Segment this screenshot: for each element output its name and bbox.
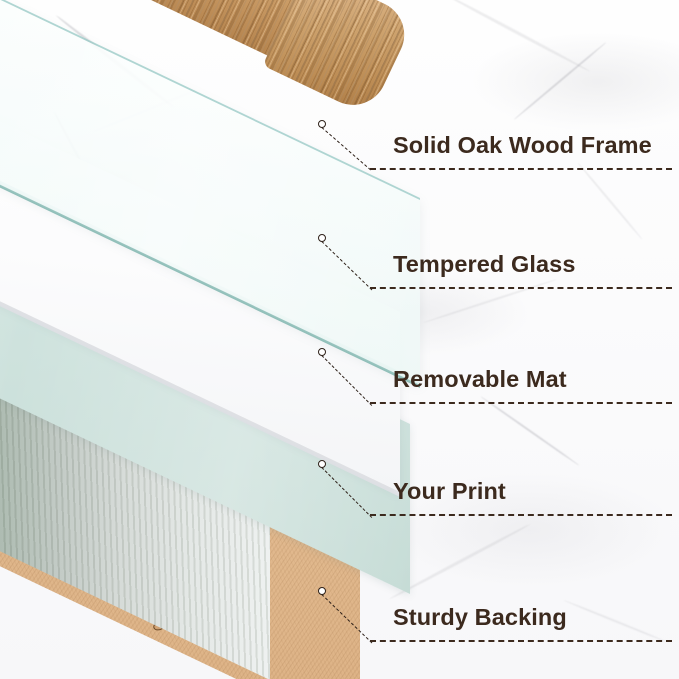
- callout-rule: [370, 402, 672, 404]
- callout-rule: [370, 640, 672, 642]
- product-infographic: Solid Oak Wood Frame Tempered Glass Remo…: [0, 0, 679, 679]
- callout-label-glass: Tempered Glass: [393, 251, 576, 278]
- marble-vein: [480, 396, 579, 466]
- callout-label-print: Your Print: [393, 478, 506, 505]
- frame-corner: [262, 0, 415, 116]
- callout-rule: [370, 287, 672, 289]
- callout-rule: [370, 514, 672, 516]
- callout-rule: [370, 168, 672, 170]
- wood-grain: [262, 0, 415, 116]
- callout-label-backing: Sturdy Backing: [393, 604, 567, 631]
- marble-vein: [389, 523, 532, 601]
- marble-vein: [564, 599, 667, 642]
- callout-label-frame: Solid Oak Wood Frame: [393, 132, 652, 159]
- marble-vein: [577, 162, 643, 240]
- callout-label-mat: Removable Mat: [393, 366, 567, 393]
